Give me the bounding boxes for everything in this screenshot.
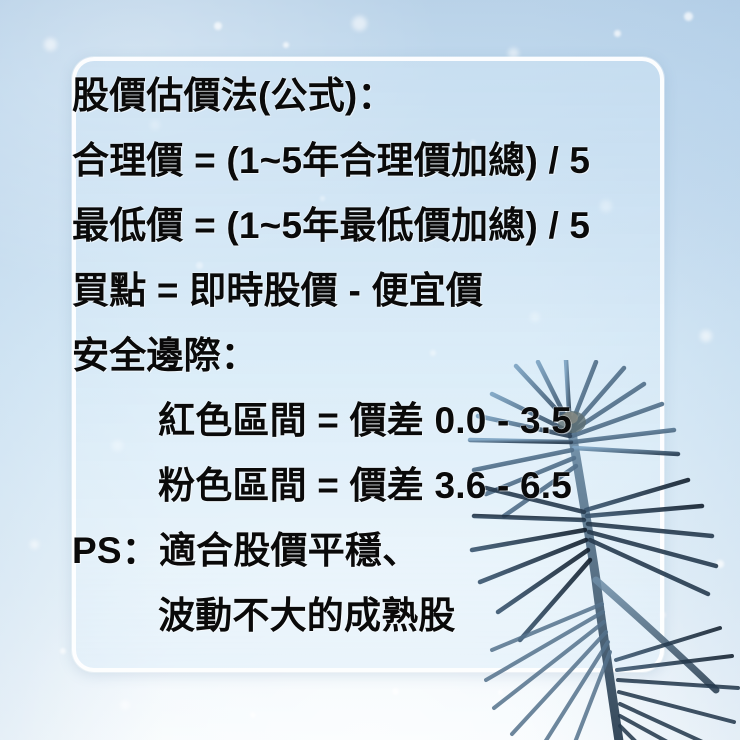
line-title: 股價估價法(公式)： (72, 74, 395, 118)
line-fair-price: 合理價 = (1~5年合理價加總) / 5 (72, 139, 590, 183)
snowflake (120, 700, 130, 710)
line-buy-point: 買點 = 即時股價 - 便宜價 (72, 269, 483, 313)
line-lowest-price: 最低價 = (1~5年最低價加總) / 5 (72, 204, 590, 248)
snowflake (214, 22, 222, 30)
snowflake (250, 712, 256, 718)
snowflake (352, 16, 367, 31)
image-canvas: 股價估價法(公式)： 合理價 = (1~5年合理價加總) / 5 最低價 = (… (0, 0, 740, 740)
line-safety-margin-heading: 安全邊際： (72, 334, 258, 378)
line-pink-zone: 粉色區間 = 價差 3.6 - 6.5 (158, 464, 572, 508)
snowflake (44, 38, 57, 51)
line-red-zone: 紅色區間 = 價差 0.0 - 3.5 (158, 399, 572, 443)
line-ps-note-2: 波動不大的成熟股 (158, 594, 456, 638)
snowflake (283, 42, 289, 48)
snowflake (60, 648, 66, 654)
snowflake (684, 12, 693, 21)
snowflake (498, 690, 503, 695)
snowflake (716, 560, 724, 568)
snowflake (614, 30, 621, 37)
line-ps-note-1: PS：適合股價平穩、 (72, 529, 419, 573)
snowflake (700, 330, 712, 342)
formula-text-block: 股價估價法(公式)： 合理價 = (1~5年合理價加總) / 5 最低價 = (… (72, 74, 672, 664)
snowflake (30, 540, 39, 549)
snowflake (392, 688, 399, 695)
